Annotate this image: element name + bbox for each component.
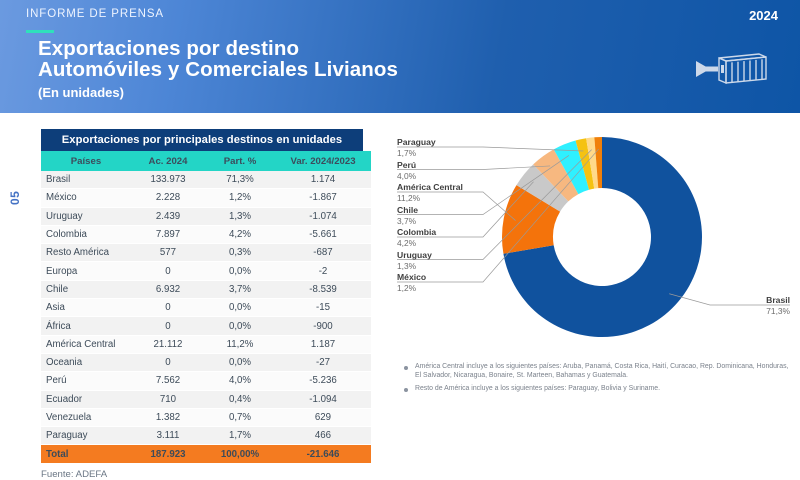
- table-body: Brasil133.97371,3%1.174México2.2281,2%-1…: [41, 171, 371, 463]
- callout-value-méxico: 1,2%: [397, 283, 416, 294]
- donut-svg: [385, 120, 800, 365]
- cell-part: 0,3%: [205, 244, 275, 262]
- callout-name-américa-central: América Central: [397, 182, 463, 193]
- cell-part: 0,0%: [205, 299, 275, 317]
- callout-value-uruguay: 1,3%: [397, 261, 416, 272]
- cell-ac: 0: [131, 317, 205, 335]
- footnote-item: Resto de América incluye a los siguiente…: [404, 384, 794, 393]
- callout-name-chile: Chile: [397, 205, 418, 216]
- callout-name-brasil: Brasil: [766, 295, 790, 306]
- cell-part: 0,0%: [205, 262, 275, 280]
- total-var: -21.646: [275, 445, 371, 463]
- header-title-group: Exportaciones por destino Automóviles y …: [38, 38, 398, 103]
- cell-ac: 0: [131, 353, 205, 371]
- cell-ac: 710: [131, 390, 205, 408]
- report-kicker: INFORME DE PRENSA: [26, 8, 164, 20]
- cell-ac: 0: [131, 299, 205, 317]
- callout-name-colombia: Colombia: [397, 227, 436, 238]
- table-row: Venezuela1.3820,7%629: [41, 408, 371, 426]
- cell-var: -2: [275, 262, 371, 280]
- table-row: Chile6.9323,7%-8.539: [41, 280, 371, 298]
- cell-part: 11,2%: [205, 335, 275, 353]
- table-row: Europa00,0%-2: [41, 262, 371, 280]
- table-caption: Exportaciones por principales destinos e…: [41, 129, 363, 151]
- callout-name-paraguay: Paraguay: [397, 137, 436, 148]
- table-row: Brasil133.97371,3%1.174: [41, 171, 371, 189]
- cell-ac: 0: [131, 262, 205, 280]
- exports-table: Países Ac. 2024 Part. % Var. 2024/2023 B…: [41, 151, 371, 464]
- col-header-part: Part. %: [205, 151, 275, 171]
- table-row: Colombia7.8974,2%-5.661: [41, 225, 371, 243]
- cell-part: 71,3%: [205, 171, 275, 189]
- callout-value-colombia: 4,2%: [397, 238, 416, 249]
- cell-ac: 7.897: [131, 225, 205, 243]
- table-row: Uruguay2.4391,3%-1.074: [41, 207, 371, 225]
- cell-pais: América Central: [41, 335, 131, 353]
- footnote-text: América Central incluye a los siguientes…: [415, 362, 794, 380]
- cell-ac: 2.439: [131, 207, 205, 225]
- cell-var: -687: [275, 244, 371, 262]
- cell-part: 1,3%: [205, 207, 275, 225]
- table-row: Ecuador7100,4%-1.094: [41, 390, 371, 408]
- page-header: INFORME DE PRENSA 2024 Exportaciones por…: [0, 0, 800, 113]
- cell-part: 0,4%: [205, 390, 275, 408]
- table-row: Paraguay3.1111,7%466: [41, 427, 371, 445]
- col-header-var: Var. 2024/2023: [275, 151, 371, 171]
- cell-pais: Asia: [41, 299, 131, 317]
- container-truck-icon: [688, 52, 772, 86]
- cell-part: 0,0%: [205, 353, 275, 371]
- cell-var: -15: [275, 299, 371, 317]
- bullet-icon: [404, 388, 408, 392]
- cell-var: -8.539: [275, 280, 371, 298]
- cell-var: -1.867: [275, 189, 371, 207]
- page-number: 05: [8, 191, 22, 205]
- leader-line: [397, 166, 550, 170]
- cell-pais: Resto América: [41, 244, 131, 262]
- table-total-row: Total187.923100,00%-21.646: [41, 445, 371, 463]
- exports-table-block: Exportaciones por principales destinos e…: [41, 129, 363, 480]
- cell-ac: 577: [131, 244, 205, 262]
- cell-pais: Europa: [41, 262, 131, 280]
- callout-value-brasil: 71,3%: [766, 306, 790, 317]
- callout-name-perú: Perú: [397, 160, 416, 171]
- cell-var: -1.074: [275, 207, 371, 225]
- cell-var: -1.094: [275, 390, 371, 408]
- cell-part: 0,7%: [205, 408, 275, 426]
- cell-part: 1,2%: [205, 189, 275, 207]
- callout-value-chile: 3,7%: [397, 216, 416, 227]
- cell-pais: Uruguay: [41, 207, 131, 225]
- chart-footnotes: América Central incluye a los siguientes…: [404, 362, 794, 398]
- cell-part: 3,7%: [205, 280, 275, 298]
- footnote-item: América Central incluye a los siguientes…: [404, 362, 794, 380]
- cell-pais: Perú: [41, 372, 131, 390]
- cell-var: 466: [275, 427, 371, 445]
- callout-name-méxico: México: [397, 272, 426, 283]
- cell-pais: Colombia: [41, 225, 131, 243]
- cell-part: 0,0%: [205, 317, 275, 335]
- cell-pais: Oceania: [41, 353, 131, 371]
- callout-value-paraguay: 1,7%: [397, 148, 416, 159]
- cell-var: 1.187: [275, 335, 371, 353]
- callout-value-perú: 4,0%: [397, 171, 416, 182]
- table-header-row: Países Ac. 2024 Part. % Var. 2024/2023: [41, 151, 371, 171]
- bullet-icon: [404, 366, 408, 370]
- page-subtitle: (En unidades): [38, 83, 398, 103]
- cell-ac: 3.111: [131, 427, 205, 445]
- kicker-underline: [26, 30, 54, 33]
- total-part: 100,00%: [205, 445, 275, 463]
- col-header-paises: Países: [41, 151, 131, 171]
- cell-ac: 1.382: [131, 408, 205, 426]
- cell-part: 4,0%: [205, 372, 275, 390]
- cell-pais: Chile: [41, 280, 131, 298]
- table-row: Perú7.5624,0%-5.236: [41, 372, 371, 390]
- page-title-line2: Automóviles y Comerciales Livianos: [38, 59, 398, 80]
- cell-pais: Paraguay: [41, 427, 131, 445]
- table-row: Resto América5770,3%-687: [41, 244, 371, 262]
- cell-var: 1.174: [275, 171, 371, 189]
- cell-ac: 2.228: [131, 189, 205, 207]
- cell-pais: África: [41, 317, 131, 335]
- total-ac: 187.923: [131, 445, 205, 463]
- table-row: Asia00,0%-15: [41, 299, 371, 317]
- table-row: México2.2281,2%-1.867: [41, 189, 371, 207]
- table-row: Oceania00,0%-27: [41, 353, 371, 371]
- cell-ac: 133.973: [131, 171, 205, 189]
- col-header-ac2024: Ac. 2024: [131, 151, 205, 171]
- callout-name-uruguay: Uruguay: [397, 250, 432, 261]
- cell-var: -5.661: [275, 225, 371, 243]
- cell-pais: Venezuela: [41, 408, 131, 426]
- cell-part: 1,7%: [205, 427, 275, 445]
- cell-pais: Brasil: [41, 171, 131, 189]
- destination-share-donut-chart: Paraguay1,7%Perú4,0%América Central11,2%…: [385, 120, 800, 365]
- page-title-line1: Exportaciones por destino: [38, 38, 398, 59]
- total-label: Total: [41, 445, 131, 463]
- cell-pais: México: [41, 189, 131, 207]
- cell-var: -27: [275, 353, 371, 371]
- cell-var: 629: [275, 408, 371, 426]
- callout-value-américa-central: 11,2%: [397, 193, 420, 204]
- cell-var: -900: [275, 317, 371, 335]
- table-row: África00,0%-900: [41, 317, 371, 335]
- cell-ac: 21.112: [131, 335, 205, 353]
- report-year: 2024: [749, 8, 778, 23]
- cell-part: 4,2%: [205, 225, 275, 243]
- cell-ac: 7.562: [131, 372, 205, 390]
- footnote-text: Resto de América incluye a los siguiente…: [415, 384, 660, 393]
- cell-pais: Ecuador: [41, 390, 131, 408]
- table-source: Fuente: ADEFA: [41, 469, 363, 480]
- table-row: América Central21.11211,2%1.187: [41, 335, 371, 353]
- cell-var: -5.236: [275, 372, 371, 390]
- cell-ac: 6.932: [131, 280, 205, 298]
